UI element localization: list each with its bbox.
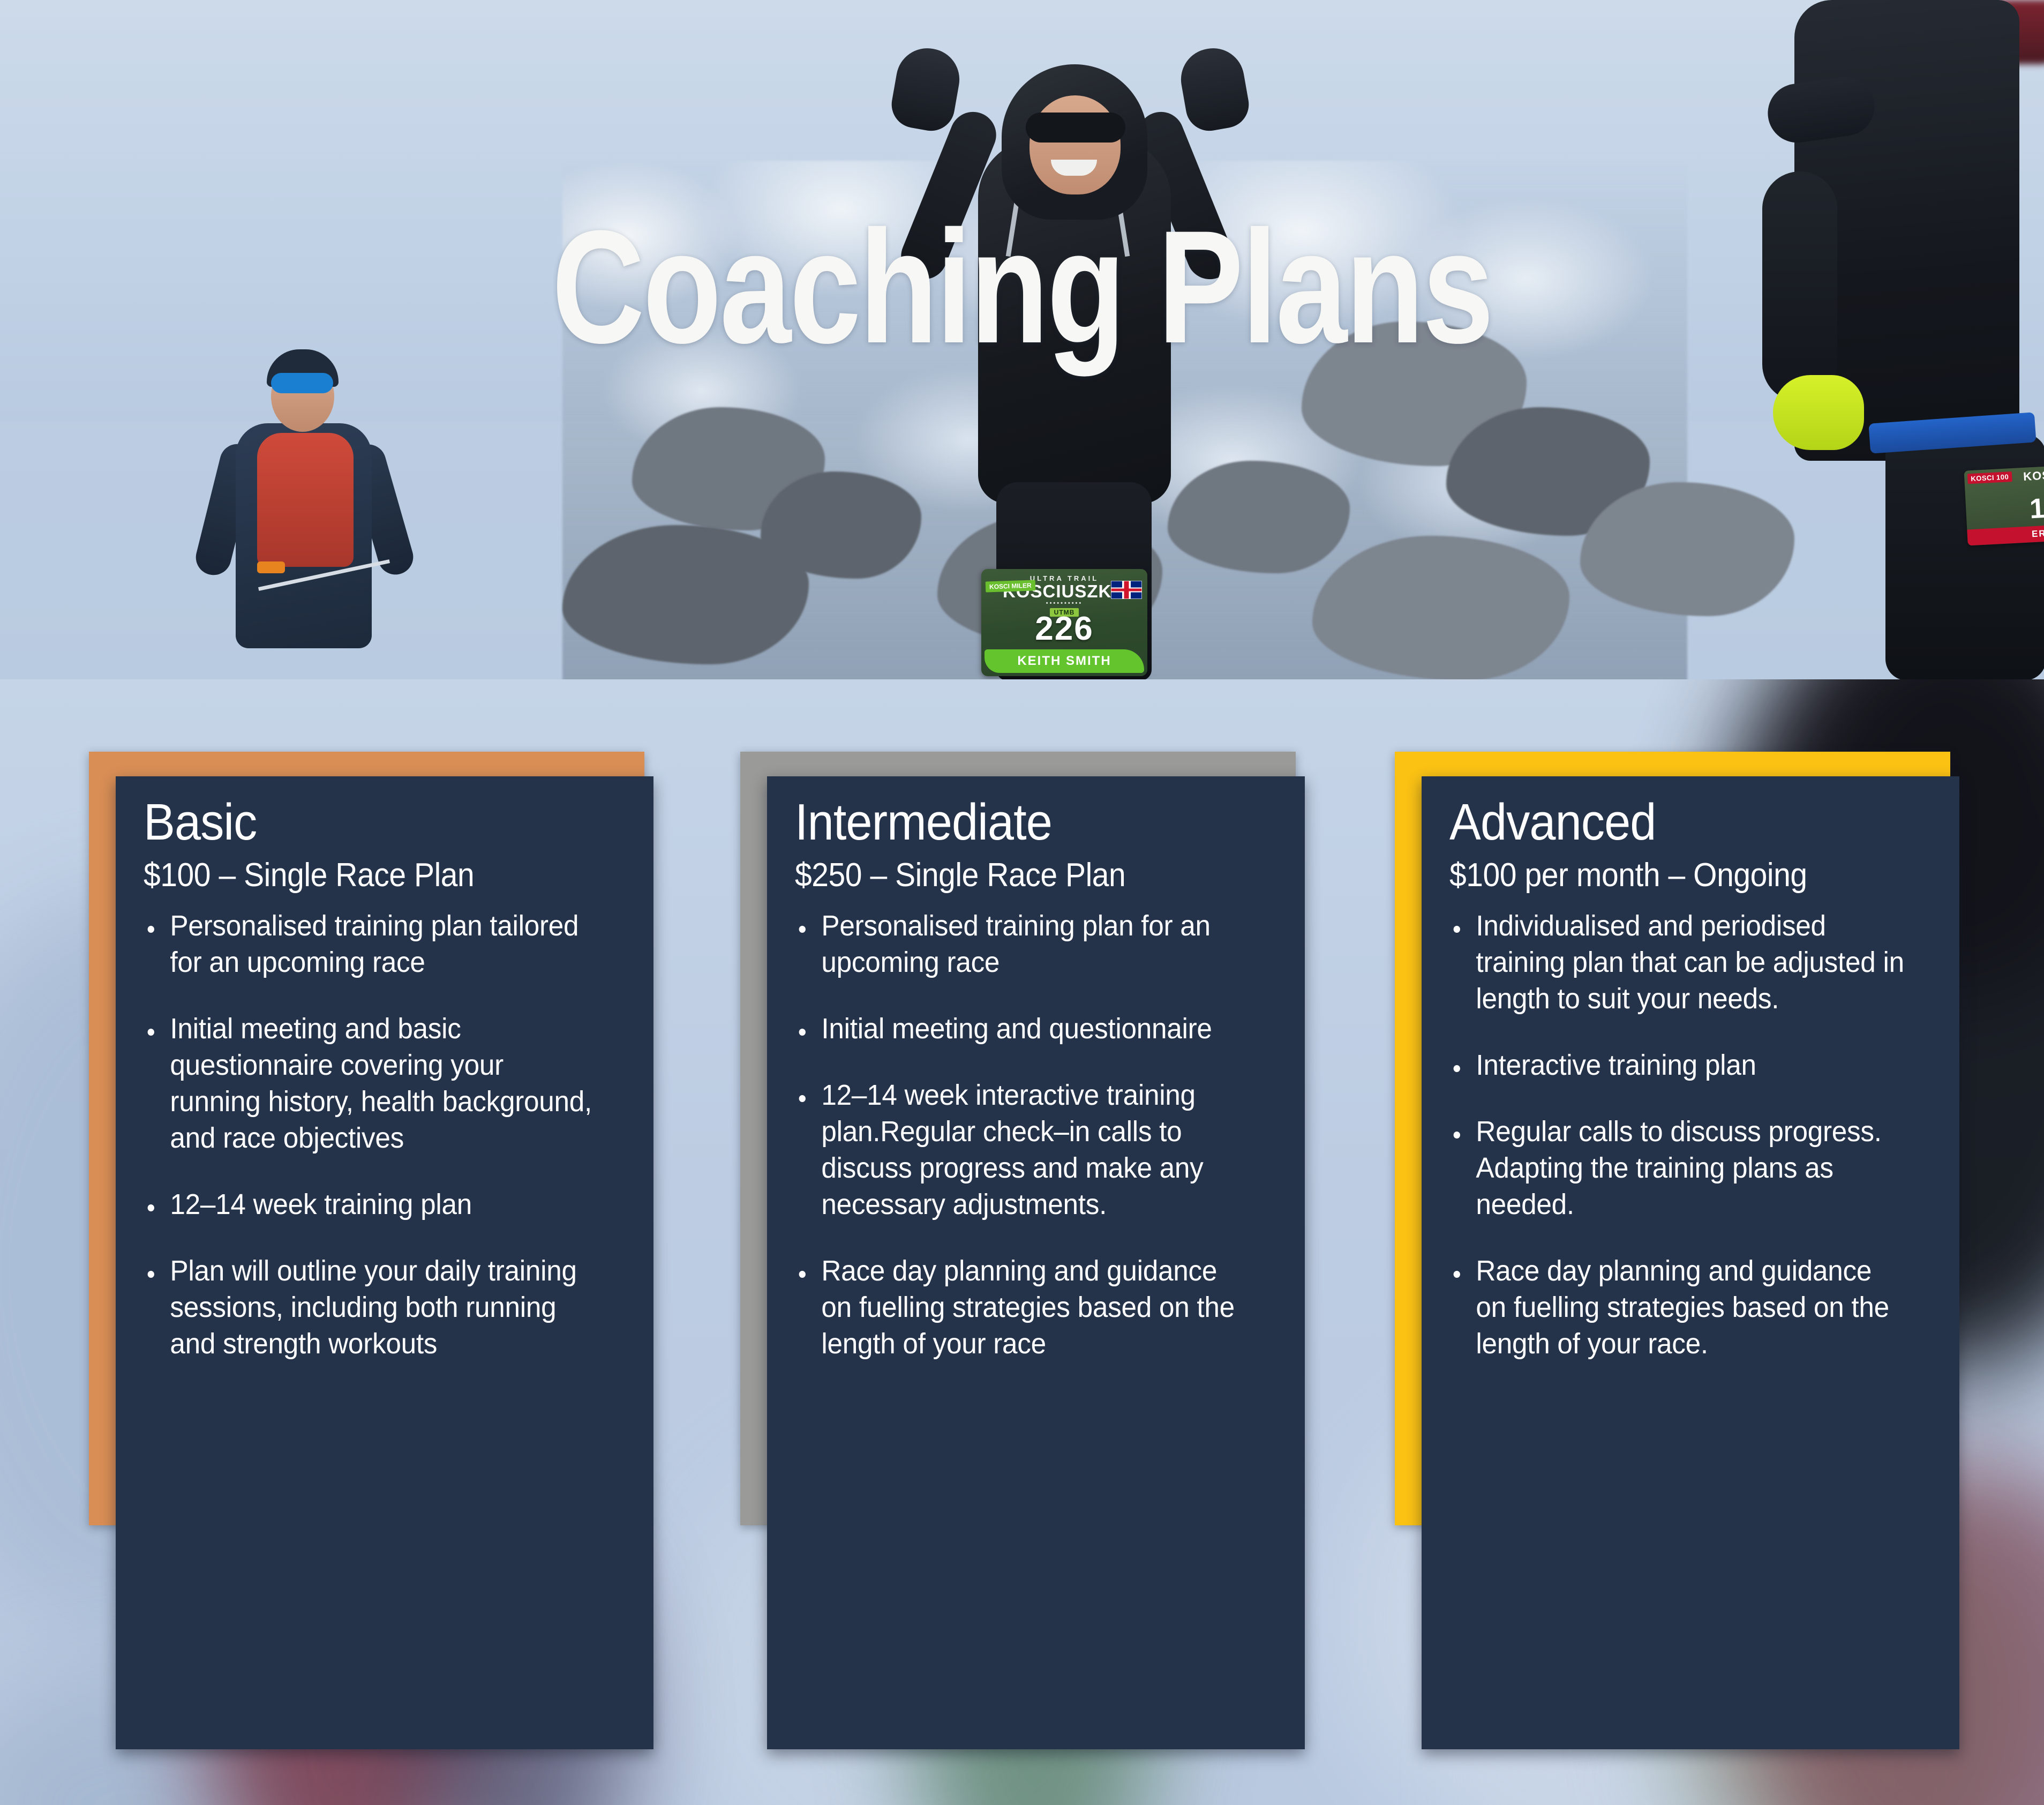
plan-feature-list: Individualised and periodised training p…	[1449, 908, 1930, 1362]
plan-title: Basic	[144, 797, 586, 848]
plan-feature-text: Plan will outline your daily training se…	[170, 1255, 576, 1360]
plan-feature-text: Initial meeting and questionnaire	[821, 1013, 1212, 1045]
bullet-icon	[799, 1029, 806, 1036]
plan-feature-item: Personalised training plan tailored for …	[144, 908, 600, 980]
plan-feature-text: Interactive training plan	[1476, 1049, 1756, 1081]
plan-feature-item: Race day planning and guidance on fuelli…	[1449, 1253, 1906, 1362]
bullet-icon	[799, 926, 806, 933]
plan-feature-item: Plan will outline your daily training se…	[144, 1253, 600, 1362]
plan-feature-item: Regular calls to discuss progress. Adapt…	[1449, 1113, 1906, 1223]
plan-feature-item: Personalised training plan for an upcomi…	[795, 908, 1252, 980]
plan-card-body: Advanced $100 per month – Ongoing Indivi…	[1422, 776, 1959, 1749]
bullet-icon	[1454, 1065, 1460, 1072]
bullet-icon	[1454, 1271, 1460, 1278]
plan-card-body: Intermediate $250 – Single Race Plan Per…	[767, 776, 1305, 1749]
plan-feature-text: Regular calls to discuss progress. Adapt…	[1476, 1115, 1881, 1220]
bullet-icon	[799, 1095, 806, 1102]
plan-feature-list: Personalised training plan for an upcomi…	[795, 908, 1276, 1362]
page-canvas: ULTRA TRAIL KOSCIUSZKO •••••••••• UTMB K…	[0, 0, 2044, 1805]
plan-feature-item: Race day planning and guidance on fuelli…	[795, 1253, 1252, 1362]
plan-title: Advanced	[1449, 797, 1892, 848]
bullet-icon	[148, 1029, 154, 1036]
plan-feature-item: Individualised and periodised training p…	[1449, 908, 1906, 1017]
page-title: Coaching Plans	[205, 206, 1840, 367]
bullet-icon	[799, 1271, 806, 1278]
plan-feature-text: Race day planning and guidance on fuelli…	[1476, 1255, 1889, 1360]
plan-price: $100 – Single Race Plan	[144, 858, 586, 893]
plan-title: Intermediate	[795, 797, 1237, 848]
plan-price: $250 – Single Race Plan	[795, 858, 1237, 893]
plan-feature-text: Individualised and periodised training p…	[1476, 910, 1904, 1015]
plan-feature-list: Personalised training plan tailored for …	[144, 908, 625, 1362]
plan-feature-text: 12–14 week interactive training plan.Reg…	[821, 1079, 1203, 1220]
plan-feature-text: Race day planning and guidance on fuelli…	[821, 1255, 1234, 1360]
plan-price: $100 per month – Ongoing	[1449, 858, 1892, 893]
bullet-icon	[148, 1204, 154, 1211]
plan-feature-item: Interactive training plan	[1449, 1047, 1906, 1083]
plan-feature-text: 12–14 week training plan	[170, 1188, 472, 1220]
plan-feature-text: Initial meeting and basic questionnaire …	[170, 1013, 592, 1154]
plan-feature-text: Personalised training plan for an upcomi…	[821, 910, 1210, 978]
plan-feature-item: 12–14 week training plan	[144, 1186, 600, 1223]
bullet-icon	[148, 926, 154, 933]
plan-feature-item: 12–14 week interactive training plan.Reg…	[795, 1077, 1252, 1223]
bullet-icon	[1454, 1132, 1460, 1139]
plan-card-body: Basic $100 – Single Race Plan Personalis…	[116, 776, 653, 1749]
plan-feature-text: Personalised training plan tailored for …	[170, 910, 578, 978]
plan-feature-item: Initial meeting and basic questionnaire …	[144, 1010, 600, 1156]
bullet-icon	[1454, 926, 1460, 933]
bullet-icon	[148, 1271, 154, 1278]
plan-feature-item: Initial meeting and questionnaire	[795, 1010, 1252, 1047]
